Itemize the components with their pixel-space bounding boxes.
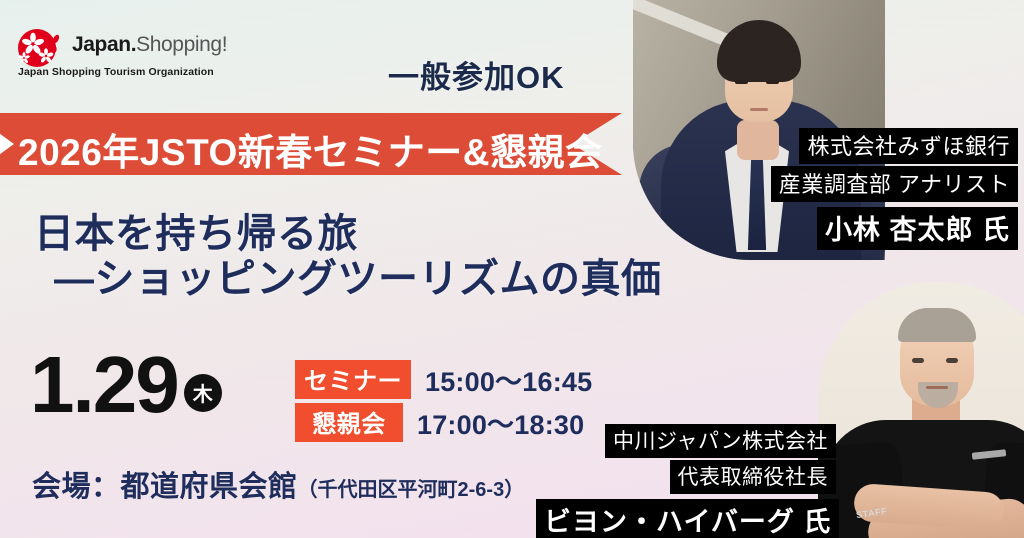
venue-info: 会場：都道府県会館（千代田区平河町2-6-3）: [32, 463, 524, 505]
event-title: 日本を持ち帰る旅 ―ショッピングツーリズムの真価: [34, 212, 662, 302]
speaker-1-role: 産業調査部 アナリスト: [771, 166, 1018, 202]
speaker-2-role: 代表取締役社長: [670, 460, 837, 494]
event-date-number: 1.29: [30, 348, 178, 422]
speaker-2-org: 中川ジャパン株式会社: [605, 424, 836, 458]
logo-wordmark-bold: Japan.: [72, 33, 136, 56]
speaker-2-caption: 中川ジャパン株式会社 代表取締役社長 ビヨン・ハイバーグ 氏: [536, 424, 836, 538]
right-arrow-icon: [0, 131, 14, 157]
photo-eye-right: [946, 358, 958, 363]
logo-wordmark: Japan.Shopping!: [72, 33, 227, 57]
photo-mouth: [750, 108, 768, 111]
logo-subtitle: Japan Shopping Tourism Organization: [18, 66, 214, 78]
speaker-2-name: ビヨン・ハイバーグ 氏: [536, 499, 839, 538]
open-participation-label: 一般参加OK: [388, 52, 565, 97]
venue-address: （千代田区平河町2-6-3）: [298, 479, 525, 501]
photo-eye-left: [735, 80, 748, 84]
event-title-line2: ―ショッピングツーリズムの真価: [54, 257, 662, 302]
schedule-tag-reception: 懇親会: [295, 403, 403, 442]
logo-wordmark-light: Shopping!: [136, 33, 227, 56]
event-banner: Japan.Shopping! Japan Shopping Tourism O…: [0, 0, 1024, 538]
schedule-tag-seminar: セミナー: [295, 360, 411, 399]
photo-eye-right: [766, 80, 779, 84]
venue-name: 会場：都道府県会館: [32, 471, 298, 503]
speaker-1-org: 株式会社みずほ銀行: [799, 128, 1018, 164]
event-date: 1.29 木: [30, 348, 222, 422]
event-title-line1: 日本を持ち帰る旅: [34, 212, 662, 257]
photo-hair: [898, 308, 976, 342]
photo-mouth: [926, 386, 948, 389]
day-of-week-badge: 木: [184, 374, 222, 412]
schedule-time-seminar: 15:00〜16:45: [425, 360, 592, 399]
jsto-logo: Japan.Shopping! Japan Shopping Tourism O…: [10, 26, 200, 86]
speaker-2-photo: STAFF: [818, 282, 1024, 538]
ribbon-title: 2026年JSTO新春セミナー&懇親会: [18, 122, 603, 176]
speaker-1-name: 小林 杏太郎 氏: [817, 207, 1018, 250]
speaker-1-caption: 株式会社みずほ銀行 産業調査部 アナリスト 小林 杏太郎 氏: [771, 128, 1018, 252]
schedule-row: セミナー 15:00〜16:45: [295, 360, 592, 399]
photo-eye-left: [912, 358, 924, 363]
